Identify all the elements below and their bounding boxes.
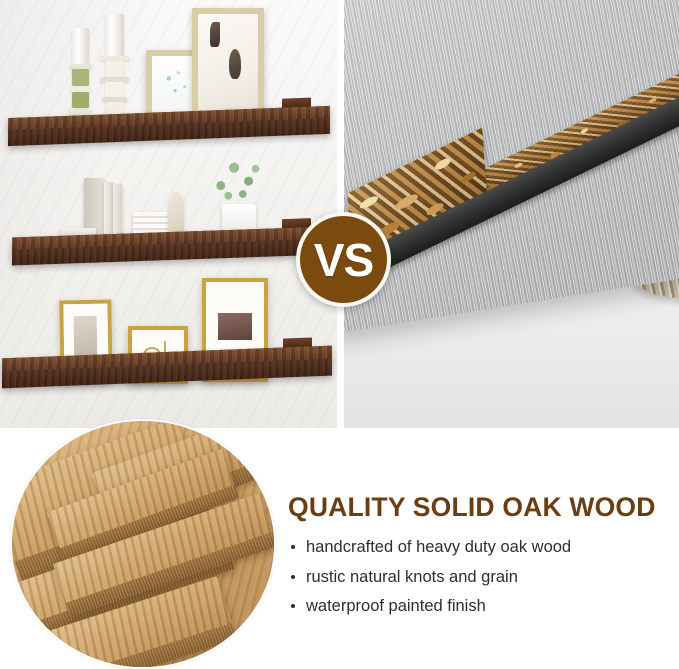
list-item: handcrafted of heavy duty oak wood bbox=[288, 537, 679, 558]
frame-artwork bbox=[210, 22, 220, 47]
bullet-dot-icon bbox=[291, 604, 295, 608]
marketing-image-stage: VS QUALITY SOLID OAK WOOD handcrafted of bbox=[0, 0, 679, 669]
potted-plant bbox=[208, 152, 266, 208]
frame-artwork bbox=[218, 313, 253, 340]
book-stack-item bbox=[104, 182, 113, 236]
bullet-dot-icon bbox=[291, 545, 295, 549]
frame-artwork bbox=[229, 49, 241, 78]
vs-badge-label: VS bbox=[314, 237, 373, 283]
cream-picture-frame-large bbox=[192, 8, 264, 118]
particle-board-panel bbox=[344, 0, 679, 428]
list-item: rustic natural knots and grain bbox=[288, 567, 679, 588]
list-item-label: handcrafted of heavy duty oak wood bbox=[306, 538, 571, 556]
headline: QUALITY SOLID OAK WOOD bbox=[288, 492, 679, 523]
vs-badge: VS bbox=[296, 212, 391, 307]
bullet-dot-icon bbox=[291, 575, 295, 579]
magazine-stack bbox=[133, 212, 171, 234]
oak-wood-closeup-inset bbox=[10, 419, 276, 669]
solid-wood-shelves-panel bbox=[0, 0, 337, 428]
list-item: waterproof painted finish bbox=[288, 596, 679, 617]
feature-list: handcrafted of heavy duty oak wood rusti… bbox=[288, 537, 679, 617]
frame-mat bbox=[198, 14, 258, 112]
book-stack-item bbox=[113, 184, 122, 236]
marketing-text-block: QUALITY SOLID OAK WOOD handcrafted of he… bbox=[288, 492, 679, 626]
list-item-label: rustic natural knots and grain bbox=[306, 568, 518, 586]
list-item-label: waterproof painted finish bbox=[306, 597, 486, 615]
